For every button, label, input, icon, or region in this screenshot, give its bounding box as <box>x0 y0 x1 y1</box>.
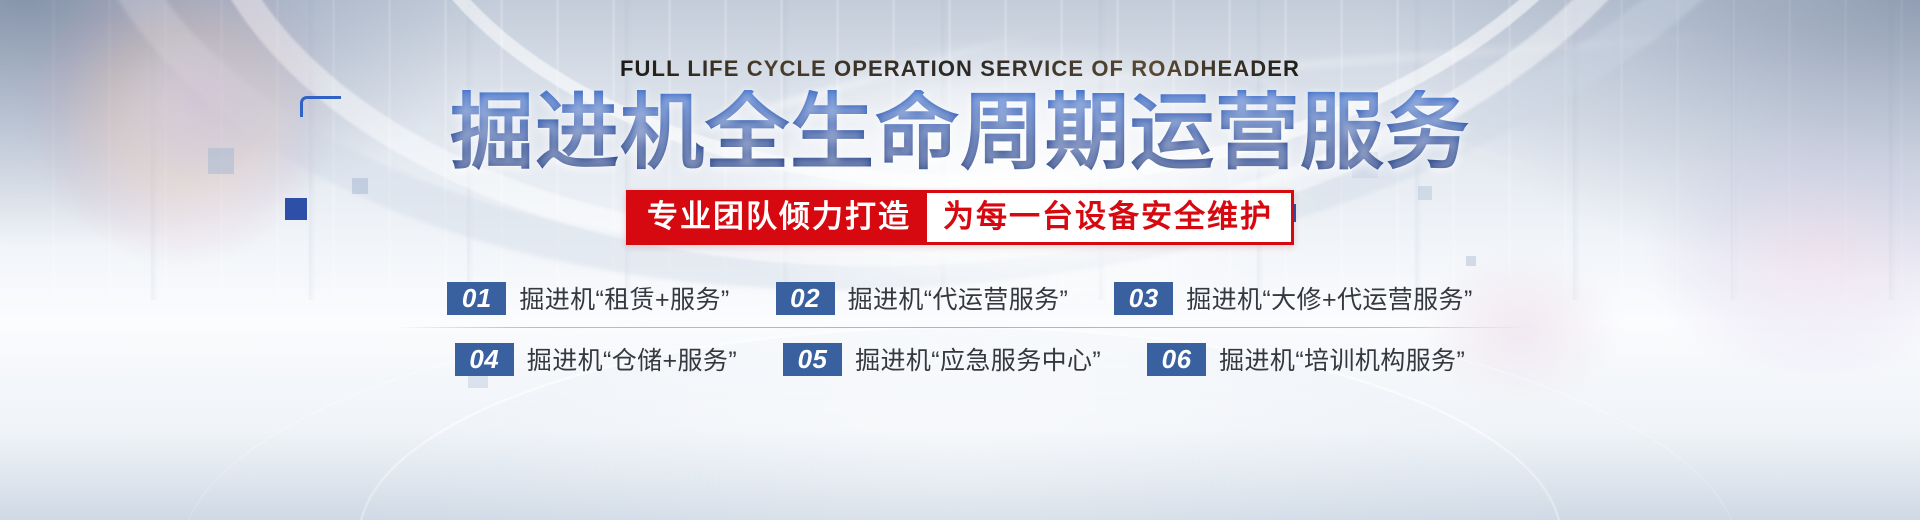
service-number-badge: 05 <box>783 343 842 376</box>
banner-main-title: 掘进机全生命周期运营服务 <box>450 90 1470 176</box>
slogan-secondary: 为每一台设备安全维护 <box>927 193 1291 243</box>
service-item-05[interactable]: 05 掘进机“应急服务中心” <box>783 341 1101 377</box>
service-label: 掘进机“仓储+服务” <box>527 341 737 377</box>
service-label: 掘进机“应急服务中心” <box>855 341 1101 377</box>
service-item-04[interactable]: 04 掘进机“仓储+服务” <box>455 341 737 377</box>
service-label: 掘进机“培训机构服务” <box>1219 341 1465 377</box>
service-row-divider <box>395 327 1525 328</box>
service-item-03[interactable]: 03 掘进机“大修+代运营服务” <box>1114 280 1472 316</box>
promo-banner: FULL LIFE CYCLE OPERATION SERVICE OF ROA… <box>0 0 1920 520</box>
service-item-06[interactable]: 06 掘进机“培训机构服务” <box>1147 341 1465 377</box>
service-item-02[interactable]: 02 掘进机“代运营服务” <box>776 280 1069 316</box>
service-number-badge: 01 <box>447 282 506 315</box>
service-number-badge: 02 <box>776 282 835 315</box>
service-list: 01 掘进机“租赁+服务” 02 掘进机“代运营服务” 03 掘进机“大修+代运… <box>325 271 1595 386</box>
slogan-bar: 专业团队倾力打造 为每一台设备安全维护 <box>626 190 1294 246</box>
service-number-badge: 03 <box>1114 282 1173 315</box>
service-item-01[interactable]: 01 掘进机“租赁+服务” <box>447 280 729 316</box>
service-number-badge: 04 <box>455 343 514 376</box>
service-label: 掘进机“大修+代运营服务” <box>1186 280 1472 316</box>
slogan-primary: 专业团队倾力打造 <box>629 193 927 243</box>
service-number-badge: 06 <box>1147 343 1206 376</box>
banner-eyebrow-english: FULL LIFE CYCLE OPERATION SERVICE OF ROA… <box>620 56 1300 82</box>
banner-content: FULL LIFE CYCLE OPERATION SERVICE OF ROA… <box>0 0 1920 520</box>
service-row-1: 01 掘进机“租赁+服务” 02 掘进机“代运营服务” 03 掘进机“大修+代运… <box>447 271 1472 325</box>
service-label: 掘进机“代运营服务” <box>848 280 1069 316</box>
service-label: 掘进机“租赁+服务” <box>519 280 729 316</box>
service-row-2: 04 掘进机“仓储+服务” 05 掘进机“应急服务中心” 06 掘进机“培训机构… <box>455 332 1465 386</box>
